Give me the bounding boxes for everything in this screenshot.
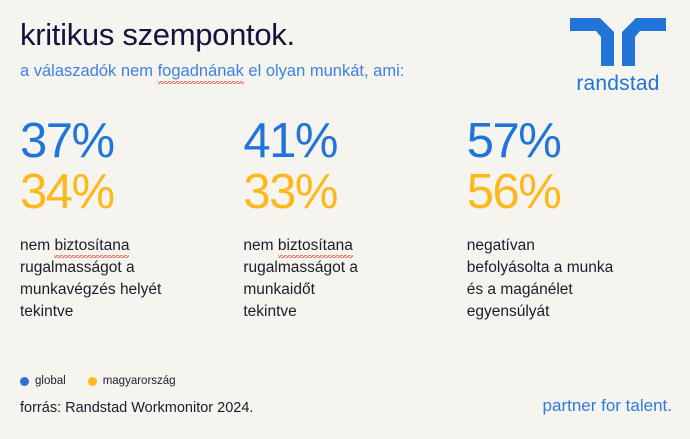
chart-legend: global magyarország	[20, 375, 198, 387]
desc-rest-1: rugalmasságot a munkavégzés helyét tekin…	[20, 259, 161, 320]
stat-description-2: nem biztosítana rugalmasságot a munkaidő…	[243, 235, 441, 323]
source-note: forrás: Randstad Workmonitor 2024.	[20, 398, 253, 418]
subtitle-misspelled-word: fogadnának	[158, 60, 244, 82]
stat-global-percent-1: 37%	[20, 116, 218, 167]
randstad-logo-mark	[568, 16, 668, 68]
stat-column-3: 57% 56% negatívan befolyásolta a munka é…	[467, 116, 680, 323]
stat-column-2: 41% 33% nem biztosítana rugalmasságot a …	[243, 116, 441, 323]
brand-tagline: partner for talent.	[543, 394, 672, 418]
legend-item-global: global	[20, 375, 66, 387]
subtitle-text-before: a válaszadók nem	[20, 62, 158, 80]
randstad-wordmark: randstad	[560, 72, 676, 96]
legend-dot-magyarorszag-icon	[88, 377, 97, 386]
desc-lead-3: negatívan befolyásolta a munka és a magá…	[467, 237, 613, 320]
legend-label-magyarorszag: magyarország	[103, 375, 176, 387]
desc-rest-2: rugalmasságot a munkaidőt tekintve	[243, 259, 358, 320]
desc-misspelled-word-2: biztosítana	[278, 235, 353, 257]
stat-description-1: nem biztosítana rugalmasságot a munkavég…	[20, 235, 218, 323]
infographic-canvas: kritikus szempontok. a válaszadók nem fo…	[0, 0, 690, 439]
legend-dot-global-icon	[20, 377, 29, 386]
stat-global-percent-2: 41%	[243, 116, 441, 167]
stat-column-1: 37% 34% nem biztosítana rugalmasságot a …	[20, 116, 218, 323]
page-subtitle: a válaszadók nem fogadnának el olyan mun…	[20, 60, 404, 82]
stat-local-percent-3: 56%	[467, 167, 680, 218]
randstad-logo: randstad	[560, 16, 676, 96]
desc-lead-2: nem	[243, 237, 277, 254]
desc-misspelled-word-1: biztosítana	[54, 235, 129, 257]
stat-description-3: negatívan befolyásolta a munka és a magá…	[467, 235, 680, 323]
desc-lead-1: nem	[20, 237, 54, 254]
stat-global-percent-3: 57%	[467, 116, 680, 167]
page-title: kritikus szempontok.	[20, 16, 565, 54]
subtitle-text-after: el olyan munkát, ami:	[244, 62, 405, 80]
legend-item-magyarorszag: magyarország	[88, 375, 176, 387]
stat-columns: 37% 34% nem biztosítana rugalmasságot a …	[20, 116, 680, 323]
stat-local-percent-1: 34%	[20, 167, 218, 218]
stat-local-percent-2: 33%	[243, 167, 441, 218]
legend-label-global: global	[35, 375, 66, 387]
header: kritikus szempontok. a válaszadók nem fo…	[20, 16, 565, 82]
